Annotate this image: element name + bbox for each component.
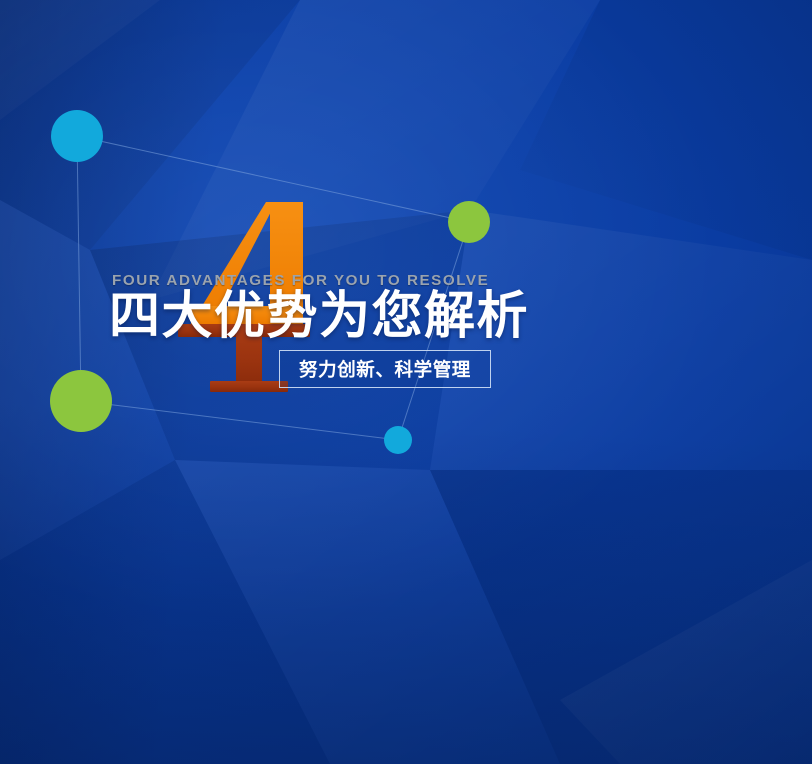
page-title: 四大优势为您解析 xyxy=(109,288,529,343)
banner-canvas: FOUR ADVANTAGES FOR YOU TO RESOLVE 四大优势为… xyxy=(0,0,812,764)
node-cyan-top-left xyxy=(51,110,103,162)
node-cyan-bottom xyxy=(384,426,412,454)
tagline-badge-label: 努力创新、科学管理 xyxy=(299,356,471,382)
tagline-badge: 努力创新、科学管理 xyxy=(279,350,491,388)
node-green-right xyxy=(448,201,490,243)
connector-green-bottom-to-cyan-bottom xyxy=(81,401,398,440)
connector-cyan-to-green-right xyxy=(77,136,469,222)
node-green-bottom-left xyxy=(50,370,112,432)
connector-cyan-to-green-bottom xyxy=(77,136,81,401)
